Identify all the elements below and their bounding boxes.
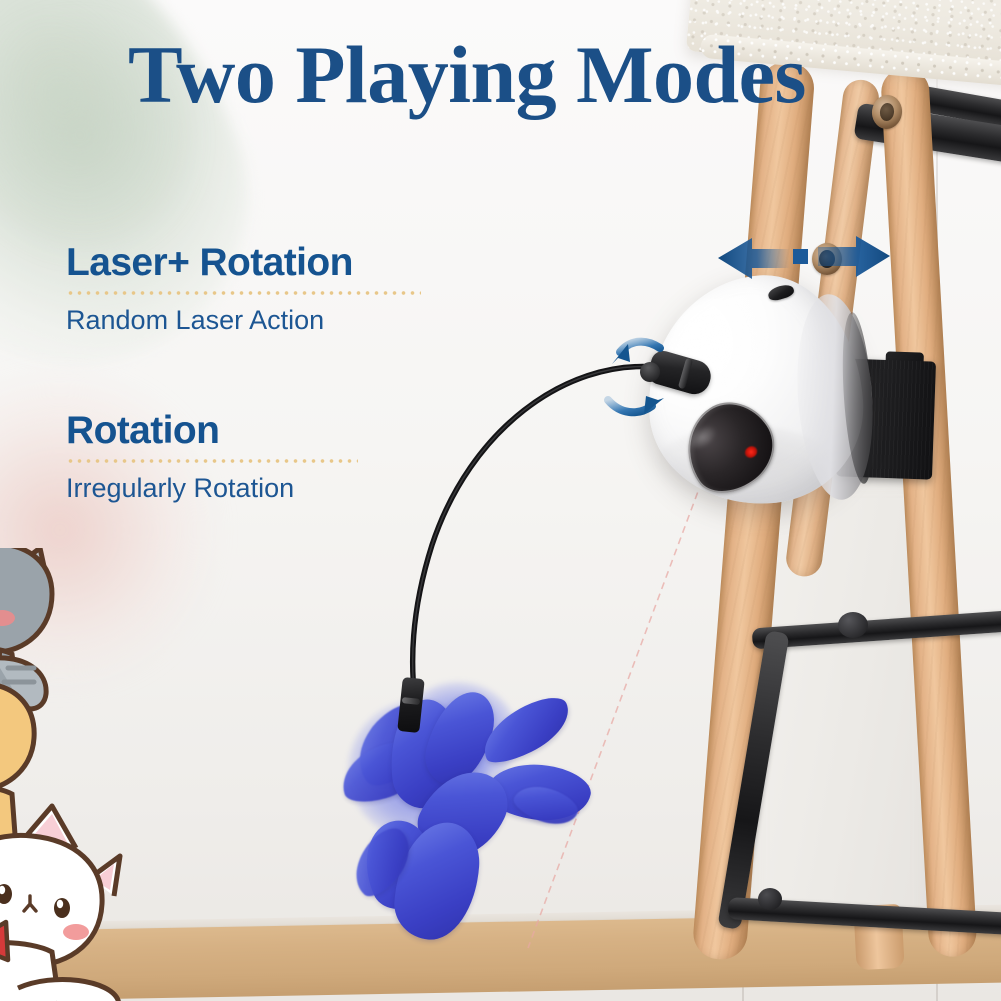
ginger-tabby-kitten: [0, 683, 34, 848]
feature-block-laser-rotation: Laser+ Rotation Random Laser Action: [66, 243, 421, 336]
dotted-divider: [66, 291, 421, 295]
red-bow-tie: [0, 920, 8, 960]
gray-tabby-kitten: [0, 548, 52, 709]
rail-joint: [758, 888, 782, 910]
feature-subtext: Irregularly Rotation: [66, 474, 358, 504]
dotted-divider: [66, 459, 358, 463]
page-title: Two Playing Modes: [128, 34, 806, 116]
rail-joint: [838, 612, 868, 638]
red-laser-dot: [743, 444, 760, 460]
feature-heading: Laser+ Rotation: [66, 243, 421, 284]
white-kitten-with-bow: [0, 806, 120, 1001]
product-infographic: Two Playing Modes Laser+ Rotation Random…: [0, 0, 1001, 1001]
feature-subtext: Random Laser Action: [66, 306, 421, 336]
chair-screw: [812, 243, 842, 275]
feature-block-rotation: Rotation Irregularly Rotation: [66, 411, 358, 504]
white-dome-laser-cat-toy: [648, 276, 878, 508]
blue-feather-cluster: [338, 672, 608, 952]
feature-heading: Rotation: [66, 411, 358, 452]
cartoon-kitten-stickers: [0, 548, 184, 1001]
